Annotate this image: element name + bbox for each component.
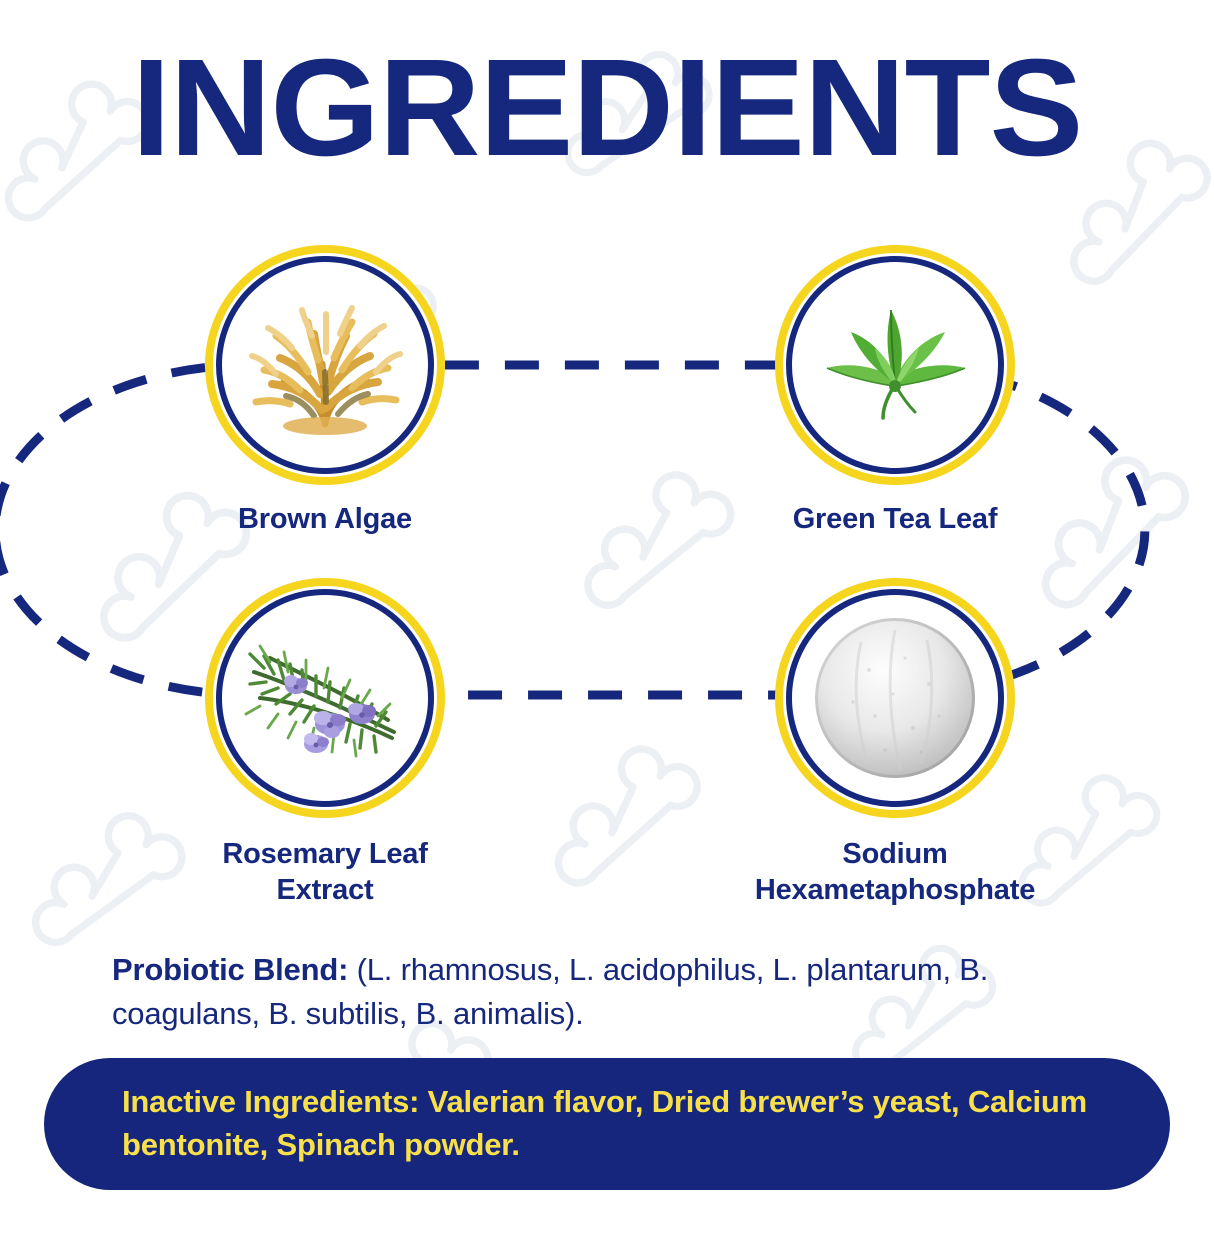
ingredient-label: Sodium Hexametaphosphate [680,836,1110,908]
ingredient-green-tea-leaf[interactable]: Green Tea Leaf [775,245,1015,537]
page-title: INGREDIENTS [0,38,1214,178]
inactive-ingredients-text: Inactive Ingredients: Valerian flavor, D… [122,1080,1092,1166]
rosemary-sprig-icon [213,586,437,810]
ingredient-sodium-hexametaphosphate[interactable]: Sodium Hexametaphosphate [775,578,1015,908]
probiotic-blend-lead: Probiotic Blend: [112,952,348,987]
brown-algae-icon [213,253,437,477]
ingredient-label: Rosemary Leaf Extract [135,836,515,908]
inactive-ingredients-lead: Inactive Ingredients: [122,1084,419,1119]
ingredient-circle [205,245,445,485]
inactive-ingredients-banner: Inactive Ingredients: Valerian flavor, D… [44,1058,1170,1190]
bone-watermark-layer [0,0,1214,1235]
dashed-connector-path [0,0,1214,1235]
ingredient-brown-algae[interactable]: Brown Algae [205,245,445,537]
ingredient-rosemary-leaf-extract[interactable]: Rosemary Leaf Extract [205,578,445,908]
probiotic-blend-text: Probiotic Blend: (L. rhamnosus, L. acido… [112,948,1042,1036]
green-tea-leaf-icon [783,253,1007,477]
white-powder-icon [783,586,1007,810]
ingredient-label: Brown Algae [205,501,445,537]
ingredient-label: Green Tea Leaf [775,501,1015,537]
ingredient-circle [205,578,445,818]
ingredient-circle [775,245,1015,485]
ingredient-circle [775,578,1015,818]
ingredients-infographic: INGREDIENTS [0,0,1214,1235]
